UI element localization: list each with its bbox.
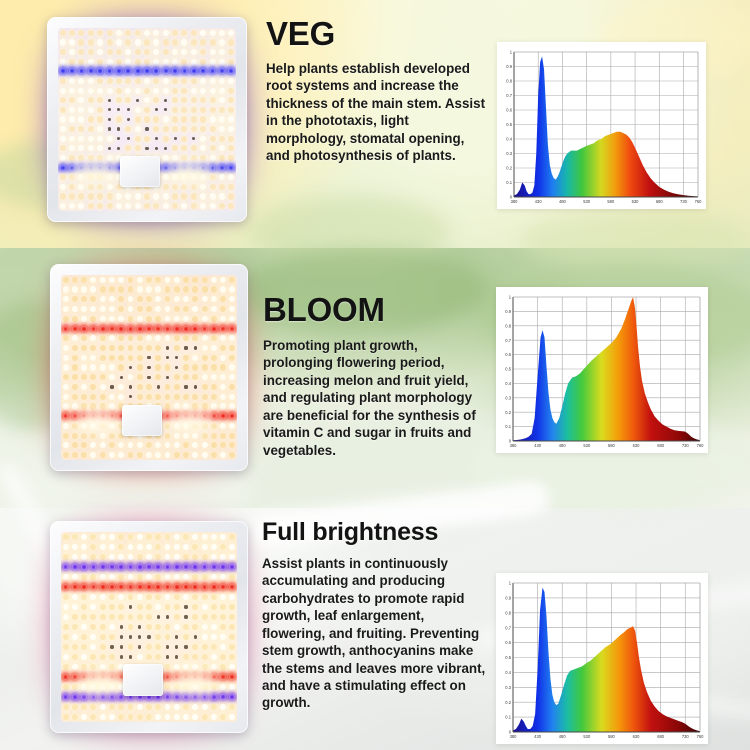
led-diode (135, 68, 141, 74)
led-diode (210, 68, 216, 74)
led-diode (109, 694, 115, 700)
led-diode (165, 574, 171, 580)
led-diode (174, 306, 180, 312)
led-diode (129, 385, 132, 388)
led-diode (128, 564, 134, 570)
led-diode (174, 374, 180, 380)
led-diode (128, 335, 134, 341)
led-diode (202, 423, 208, 429)
led-diode (192, 694, 198, 700)
led-diode (100, 374, 106, 380)
led-diode (63, 452, 69, 458)
led-diode (100, 714, 106, 720)
led-diode (88, 39, 94, 45)
led-diode (153, 30, 159, 36)
led-diode (79, 165, 85, 171)
led-diode (211, 364, 217, 370)
led-diode (192, 664, 198, 670)
svg-text:680: 680 (657, 734, 665, 739)
led-diode (135, 39, 141, 45)
led-diode (183, 534, 189, 540)
led-diode (72, 277, 78, 283)
led-diode (63, 574, 69, 580)
section-heading-full-brightness: Full brightness (262, 520, 490, 545)
led-diode (229, 403, 235, 409)
led-diode (144, 78, 150, 84)
led-diode (192, 564, 198, 570)
led-diode (181, 184, 187, 190)
led-diode (155, 544, 161, 550)
led-diode (78, 136, 84, 142)
led-diode (100, 704, 106, 710)
led-diode (109, 326, 115, 332)
led-diode (228, 88, 234, 94)
led-diode (181, 78, 187, 84)
led-diode (109, 654, 115, 660)
led-diode (163, 30, 169, 36)
led-diode (100, 326, 106, 332)
led-diode (229, 296, 235, 302)
led-diode (155, 137, 158, 140)
led-diode (211, 624, 217, 630)
svg-text:0.9: 0.9 (505, 309, 511, 314)
led-diode (78, 184, 84, 190)
led-diode (210, 97, 216, 103)
led-diode (174, 326, 180, 332)
led-diode (72, 554, 78, 560)
led-diode (155, 364, 161, 370)
led-diode (137, 286, 143, 292)
led-diode (165, 674, 171, 680)
led-diode (116, 88, 122, 94)
led-diode (137, 544, 143, 550)
led-diode (100, 384, 106, 390)
led-diode (153, 126, 159, 132)
led-diode (174, 574, 180, 580)
led-diode (137, 277, 143, 283)
led-diode (220, 574, 226, 580)
svg-text:0.5: 0.5 (505, 655, 511, 660)
led-diode (88, 30, 94, 36)
led-panel-bloom[interactable] (50, 264, 248, 471)
led-diode (97, 165, 103, 171)
led-diode (192, 137, 195, 140)
led-diode (211, 384, 217, 390)
led-diode (90, 594, 96, 600)
svg-text:680: 680 (656, 199, 664, 204)
led-diode (118, 394, 124, 400)
led-diode (116, 59, 122, 65)
led-diode (109, 614, 115, 620)
led-diode (69, 126, 75, 132)
led-diode (137, 374, 143, 380)
led-diode (108, 108, 111, 111)
led-diode (183, 306, 189, 312)
led-diode (155, 355, 161, 361)
led-diode (210, 145, 216, 151)
led-diode (69, 107, 75, 113)
led-diode (72, 433, 78, 439)
led-diode (229, 452, 235, 458)
led-diode (79, 68, 85, 74)
panel-frame-bloom (50, 264, 248, 471)
led-diode (192, 374, 198, 380)
led-diode (191, 88, 197, 94)
panel-control-button-veg[interactable] (120, 156, 160, 187)
led-diode (229, 674, 235, 680)
led-diode (163, 136, 169, 142)
led-diode (60, 145, 66, 151)
led-diode (211, 714, 217, 720)
led-diode (69, 165, 75, 171)
led-diode (135, 59, 141, 65)
led-diode (202, 624, 208, 630)
led-diode (116, 68, 122, 74)
led-diode (90, 345, 96, 351)
led-diode (125, 145, 131, 151)
led-diode (81, 614, 87, 620)
led-diode (117, 147, 120, 150)
led-panel-full-brightness[interactable] (50, 521, 248, 733)
led-diode (219, 116, 225, 122)
led-diode (165, 604, 171, 610)
led-diode (135, 203, 141, 209)
led-diode (202, 355, 208, 361)
led-diode (72, 704, 78, 710)
svg-text:0.7: 0.7 (506, 93, 512, 98)
led-diode (90, 574, 96, 580)
led-diode (81, 335, 87, 341)
led-diode (90, 664, 96, 670)
led-diode (229, 394, 235, 400)
led-diode (202, 544, 208, 550)
led-diode (91, 674, 97, 680)
led-diode (100, 286, 106, 292)
led-diode (100, 584, 106, 590)
led-diode (181, 193, 187, 199)
led-diode (109, 714, 115, 720)
led-diode (228, 193, 234, 199)
led-diode (100, 654, 106, 660)
led-diode (191, 116, 197, 122)
led-diode (211, 674, 217, 680)
led-diode (97, 193, 103, 199)
led-diode (211, 442, 217, 448)
led-diode (90, 452, 96, 458)
led-diode (211, 654, 217, 660)
led-diode (117, 108, 120, 111)
led-diode (229, 384, 235, 390)
led-diode (146, 306, 152, 312)
led-diode (219, 193, 225, 199)
led-diode (118, 714, 124, 720)
svg-text:680: 680 (657, 443, 665, 448)
led-diode (138, 645, 141, 648)
led-diode (117, 127, 120, 130)
led-diode (183, 403, 189, 409)
led-diode (60, 203, 66, 209)
led-diode (72, 584, 78, 590)
led-diode (191, 39, 197, 45)
led-diode (127, 118, 130, 121)
led-diode (219, 145, 225, 151)
led-diode (229, 554, 235, 560)
led-diode (192, 286, 198, 292)
led-diode (125, 59, 131, 65)
led-diode (63, 534, 69, 540)
led-diode (211, 277, 217, 283)
led-diode (81, 654, 87, 660)
led-diode (88, 193, 94, 199)
svg-text:760: 760 (695, 199, 703, 204)
led-diode (81, 326, 87, 332)
led-diode (63, 355, 69, 361)
led-diode (228, 49, 234, 55)
led-diode (109, 594, 115, 600)
led-diode (163, 155, 169, 161)
led-diode (90, 624, 96, 630)
led-diode (60, 136, 66, 142)
svg-text:730: 730 (682, 443, 690, 448)
led-diode (210, 165, 216, 171)
led-diode (63, 277, 69, 283)
led-diode (129, 655, 132, 658)
led-diode (100, 614, 106, 620)
led-diode (100, 364, 106, 370)
led-diode (211, 433, 217, 439)
led-diode (146, 564, 152, 570)
led-diode (184, 346, 187, 349)
led-diode (60, 78, 66, 84)
led-diode (63, 316, 69, 322)
led-diode (211, 413, 217, 419)
led-diode (220, 316, 226, 322)
led-diode (128, 584, 134, 590)
led-diode (78, 203, 84, 209)
led-diode (202, 364, 208, 370)
led-diode (228, 68, 234, 74)
led-diode (200, 59, 206, 65)
led-diode (147, 356, 150, 359)
led-diode (118, 564, 124, 570)
led-diode (107, 78, 113, 84)
led-diode (69, 184, 75, 190)
led-diode (192, 413, 198, 419)
led-diode (219, 30, 225, 36)
led-diode (174, 286, 180, 292)
led-diode (165, 452, 171, 458)
led-diode (192, 644, 198, 650)
led-diode (229, 355, 235, 361)
led-diode (191, 107, 197, 113)
led-diode (90, 604, 96, 610)
led-diode (107, 165, 113, 171)
led-diode (109, 574, 115, 580)
led-diode (202, 374, 208, 380)
led-diode (63, 714, 69, 720)
panel-control-button-full-brightness[interactable] (123, 664, 163, 696)
led-diode (60, 49, 66, 55)
led-diode (229, 564, 235, 570)
led-diode (228, 59, 234, 65)
svg-text:0.9: 0.9 (505, 596, 511, 601)
led-diode (144, 68, 150, 74)
svg-text:630: 630 (633, 443, 641, 448)
led-diode (137, 296, 143, 302)
led-diode (202, 286, 208, 292)
led-diode (81, 704, 87, 710)
svg-text:0.2: 0.2 (505, 700, 511, 705)
led-diode (137, 442, 143, 448)
led-diode (166, 376, 169, 379)
led-diode (78, 39, 84, 45)
led-diode (109, 584, 115, 590)
led-diode (174, 674, 180, 680)
led-diode (164, 99, 167, 102)
led-diode (90, 355, 96, 361)
led-diode (165, 403, 171, 409)
led-diode (63, 554, 69, 560)
led-diode (192, 654, 198, 660)
led-diode (174, 452, 180, 458)
led-diode (137, 614, 143, 620)
led-diode (110, 645, 113, 648)
led-diode (153, 97, 159, 103)
led-diode (165, 326, 171, 332)
led-diode (147, 366, 150, 369)
led-diode (229, 345, 235, 351)
led-diode (219, 59, 225, 65)
led-diode (172, 203, 178, 209)
led-diode (229, 374, 235, 380)
led-diode (174, 554, 180, 560)
led-diode (81, 664, 87, 670)
led-diode (211, 316, 217, 322)
led-diode (107, 136, 113, 142)
led-diode (219, 174, 225, 180)
led-diode (100, 574, 106, 580)
led-diode (183, 374, 189, 380)
led-diode (200, 193, 206, 199)
led-diode (192, 403, 198, 409)
led-diode (174, 594, 180, 600)
led-diode (174, 413, 180, 419)
led-diode (90, 403, 96, 409)
led-diode (128, 286, 134, 292)
led-diode (210, 193, 216, 199)
led-diode (118, 614, 124, 620)
led-diode (116, 30, 122, 36)
led-diode (183, 452, 189, 458)
led-diode (69, 49, 75, 55)
led-diode (192, 316, 198, 322)
led-diode (165, 423, 171, 429)
led-diode (172, 78, 178, 84)
led-diode (110, 385, 113, 388)
led-diode (63, 674, 69, 680)
svg-text:0.4: 0.4 (506, 137, 512, 142)
led-diode (72, 326, 78, 332)
led-diode (155, 594, 161, 600)
led-diode (100, 624, 106, 630)
led-diode (219, 136, 225, 142)
led-diode (192, 423, 198, 429)
led-diode (192, 433, 198, 439)
led-diode (88, 155, 94, 161)
led-diode (97, 155, 103, 161)
led-diode (220, 544, 226, 550)
led-diode (182, 165, 188, 171)
led-diode (144, 49, 150, 55)
led-diode (109, 316, 115, 322)
led-diode (202, 554, 208, 560)
led-diode (181, 136, 187, 142)
led-diode (155, 286, 161, 292)
led-diode (100, 634, 106, 640)
led-diode (183, 594, 189, 600)
led-diode (146, 544, 152, 550)
led-diode (107, 39, 113, 45)
led-diode (219, 78, 225, 84)
led-diode (228, 136, 234, 142)
svg-text:430: 430 (534, 443, 542, 448)
led-diode (88, 184, 94, 190)
led-diode (172, 107, 178, 113)
led-diode (211, 394, 217, 400)
led-diode (155, 306, 161, 312)
svg-text:380: 380 (510, 443, 518, 448)
led-diode (109, 664, 115, 670)
led-diode (144, 193, 150, 199)
led-diode (211, 694, 217, 700)
led-diode (97, 39, 103, 45)
led-panel-veg[interactable] (47, 17, 247, 222)
led-diode (109, 634, 115, 640)
led-diode (63, 704, 69, 710)
led-diode (229, 684, 235, 690)
led-diode (228, 97, 234, 103)
led-diode (81, 394, 87, 400)
led-diode (81, 413, 87, 419)
led-diode (116, 78, 122, 84)
led-diode (202, 534, 208, 540)
led-diode (118, 277, 124, 283)
led-diode (210, 155, 216, 161)
led-diode (183, 335, 189, 341)
led-diode (183, 423, 189, 429)
led-diode (137, 574, 143, 580)
led-diode (183, 286, 189, 292)
led-diode (220, 714, 226, 720)
led-diode (81, 345, 87, 351)
led-diode (109, 564, 115, 570)
led-diode (120, 376, 123, 379)
led-diode (107, 88, 113, 94)
led-diode (220, 374, 226, 380)
svg-text:480: 480 (559, 443, 567, 448)
led-diode (109, 452, 115, 458)
led-diode (81, 624, 87, 630)
led-diode (100, 664, 106, 670)
led-diode (155, 574, 161, 580)
led-diode (228, 155, 234, 161)
led-diode (137, 594, 143, 600)
led-diode (97, 78, 103, 84)
led-diode (137, 394, 143, 400)
svg-text:0.3: 0.3 (505, 395, 511, 400)
led-diode (118, 286, 124, 292)
panel-control-button-bloom[interactable] (122, 405, 162, 436)
